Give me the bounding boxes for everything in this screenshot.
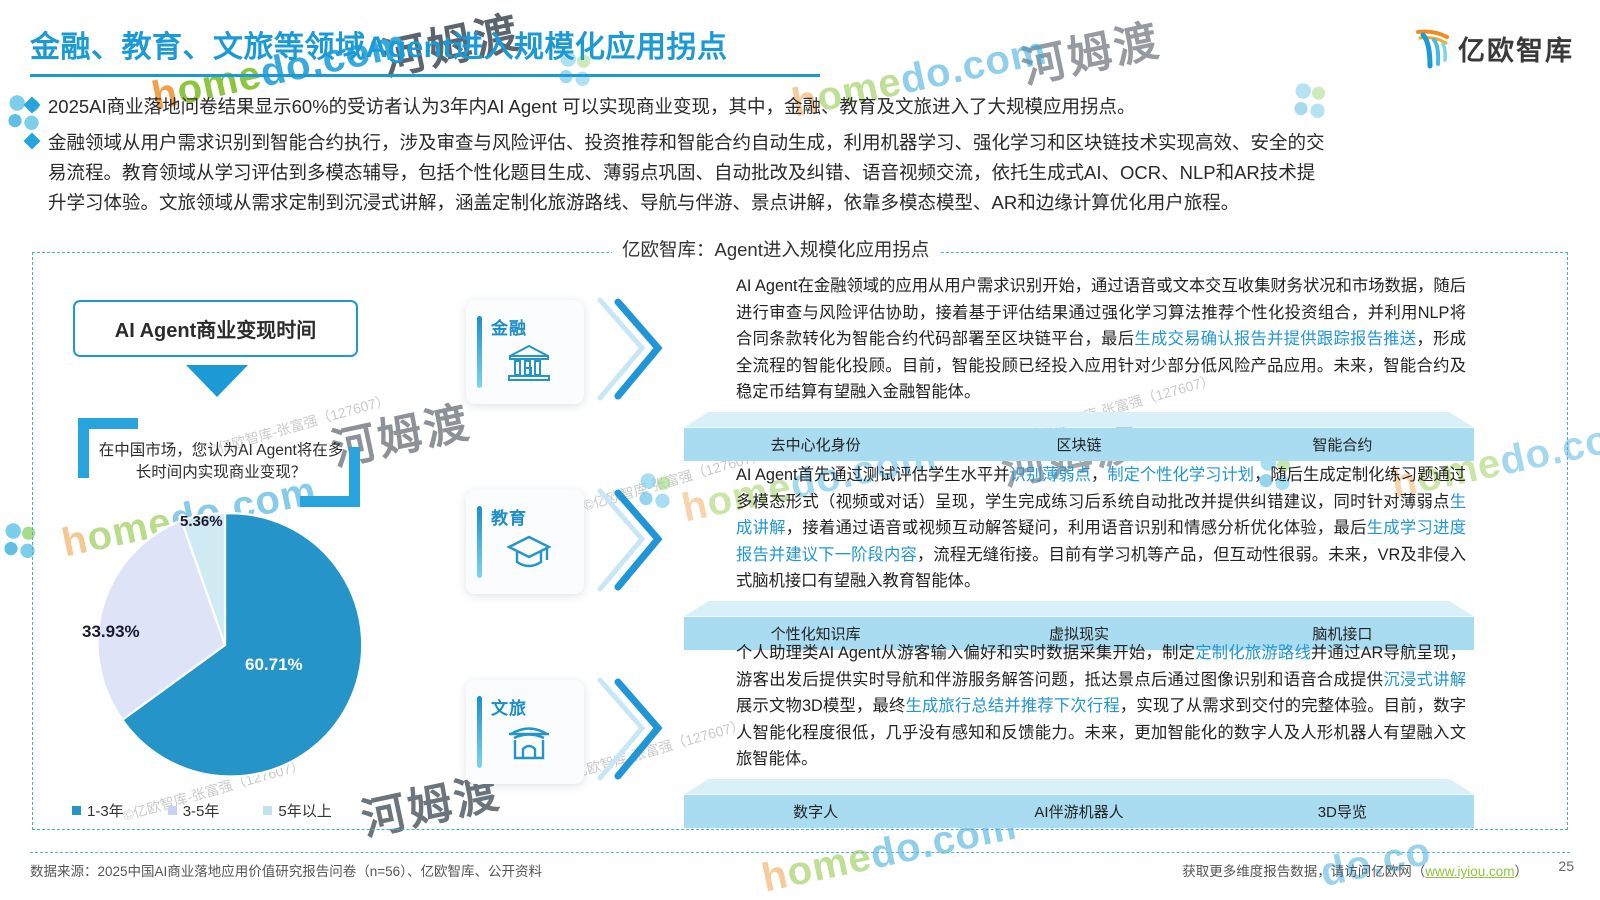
bullet-text: 金融领域从用户需求识别到智能合约执行，涉及审查与风险评估、投资推荐和智能合约自动… bbox=[48, 128, 1326, 218]
slide-page: 河姆渡 homedo.com 河姆渡 homedo.com 河姆渡 homedo… bbox=[0, 0, 1600, 900]
pie-label-3-5years: 33.93% bbox=[82, 622, 140, 642]
legend-item: 5年以上 bbox=[263, 800, 331, 821]
bullet-point: 2025AI商业落地问卷结果显示60%的受访者认为3年内AI Agent 可以实… bbox=[26, 92, 1446, 122]
tag-band: 数字人 AI伴游机器人 3D导览 bbox=[684, 795, 1474, 828]
graduation-cap-icon bbox=[506, 532, 552, 577]
footer-link-text: 获取更多维度报告数据，请访问亿欧网（www.iyiou.com） bbox=[1182, 860, 1528, 880]
pie-chart-svg bbox=[85, 505, 365, 785]
legend-label: 5年以上 bbox=[278, 800, 331, 821]
category-label: 教育 bbox=[491, 504, 527, 529]
panel-paragraph: AI Agent首先通过测试评估学生水平并识别薄弱点，制定个性化学习计划，随后生… bbox=[736, 462, 1466, 595]
footer-divider bbox=[30, 852, 1570, 853]
tag-item: 3D导览 bbox=[1211, 801, 1474, 822]
pie-legend: 1-3年 3-5年 5年以上 bbox=[72, 800, 332, 821]
category-card-finance[interactable]: 金融 bbox=[466, 300, 584, 404]
bullet-text: 2025AI商业落地问卷结果显示60%的受访者认为3年内AI Agent 可以实… bbox=[48, 92, 1136, 122]
legend-swatch bbox=[168, 806, 177, 815]
survey-question: 在中国市场，您认为AI Agent将在多长时间内实现商业变现？ bbox=[96, 440, 346, 484]
pagoda-icon bbox=[506, 722, 552, 767]
panel-paragraph: AI Agent在金融领域的应用从用户需求识别开始，通过语音或文本交互收集财务状… bbox=[736, 273, 1466, 406]
chart-title-pill: AI Agent商业变现时间 bbox=[73, 300, 358, 357]
category-label: 金融 bbox=[491, 314, 527, 339]
pie-label-5plus-years: 5.36% bbox=[180, 513, 223, 530]
pie-chart bbox=[85, 505, 365, 785]
chevron-right-icon bbox=[596, 487, 666, 595]
chevron-right-icon bbox=[596, 676, 666, 784]
panel-trapezoid bbox=[684, 412, 1474, 428]
frame-title: 亿欧智库：Agent进入规模化应用拐点 bbox=[612, 236, 939, 262]
panel-body: 个人助理类AI Agent从游客输入偏好和实时数据采集开始，制定定制化旅游路线并… bbox=[684, 630, 1474, 779]
panel-body: AI Agent在金融领域的应用从用户需求识别开始，通过语音或文本交互收集财务状… bbox=[684, 263, 1474, 412]
page-title: 金融、教育、文旅等领域Agent进入规模化应用拐点 bbox=[30, 22, 728, 66]
data-source-text: 数据来源：2025中国AI商业落地应用价值研究报告问卷（n=56）、亿欧智库、公… bbox=[30, 860, 542, 880]
detail-panel-tourism: 个人助理类AI Agent从游客输入偏好和实时数据采集开始，制定定制化旅游路线并… bbox=[684, 630, 1474, 828]
detail-panel-education: AI Agent首先通过测试评估学生水平并识别薄弱点，制定个性化学习计划，随后生… bbox=[684, 452, 1474, 650]
pie-label-1-3years: 60.71% bbox=[245, 655, 303, 675]
down-arrow-icon bbox=[186, 365, 248, 397]
legend-swatch bbox=[72, 806, 81, 815]
panel-body: AI Agent首先通过测试评估学生水平并识别薄弱点，制定个性化学习计划，随后生… bbox=[684, 452, 1474, 601]
legend-swatch bbox=[263, 806, 272, 815]
category-label: 文旅 bbox=[491, 694, 527, 719]
tag-item: AI伴游机器人 bbox=[947, 801, 1210, 822]
page-number: 25 bbox=[1558, 858, 1574, 874]
diamond-bullet-icon bbox=[24, 97, 41, 114]
footer-prefix: 获取更多维度报告数据，请访问亿欧网（ bbox=[1182, 864, 1425, 879]
panel-paragraph: 个人助理类AI Agent从游客输入偏好和实时数据采集开始，制定定制化旅游路线并… bbox=[736, 640, 1466, 773]
legend-label: 1-3年 bbox=[87, 800, 124, 821]
detail-panel-finance: AI Agent在金融领域的应用从用户需求识别开始，通过语音或文本交互收集财务状… bbox=[684, 263, 1474, 461]
footer-suffix: ） bbox=[1515, 864, 1529, 879]
chevron-right-icon bbox=[596, 296, 666, 404]
iyiou-website-link[interactable]: www.iyiou.com bbox=[1425, 864, 1514, 879]
panel-trapezoid bbox=[684, 779, 1474, 795]
category-card-tourism[interactable]: 文旅 bbox=[466, 680, 584, 784]
diamond-bullet-icon bbox=[24, 133, 41, 150]
bank-icon bbox=[506, 342, 552, 389]
tag-item: 数字人 bbox=[684, 801, 947, 822]
watermark-brand-cn: 河姆渡 bbox=[1015, 4, 1166, 96]
brand-logo: 亿欧智库 bbox=[1414, 26, 1574, 70]
panel-trapezoid bbox=[684, 601, 1474, 617]
legend-item: 1-3年 bbox=[72, 800, 124, 821]
iyiou-logo-icon bbox=[1414, 26, 1452, 70]
brand-name: 亿欧智库 bbox=[1458, 29, 1574, 68]
category-card-education[interactable]: 教育 bbox=[466, 490, 584, 594]
legend-item: 3-5年 bbox=[168, 800, 220, 821]
legend-label: 3-5年 bbox=[183, 800, 220, 821]
bullet-point: 金融领域从用户需求识别到智能合约执行，涉及审查与风险评估、投资推荐和智能合约自动… bbox=[26, 128, 1326, 218]
title-underline bbox=[30, 74, 820, 77]
